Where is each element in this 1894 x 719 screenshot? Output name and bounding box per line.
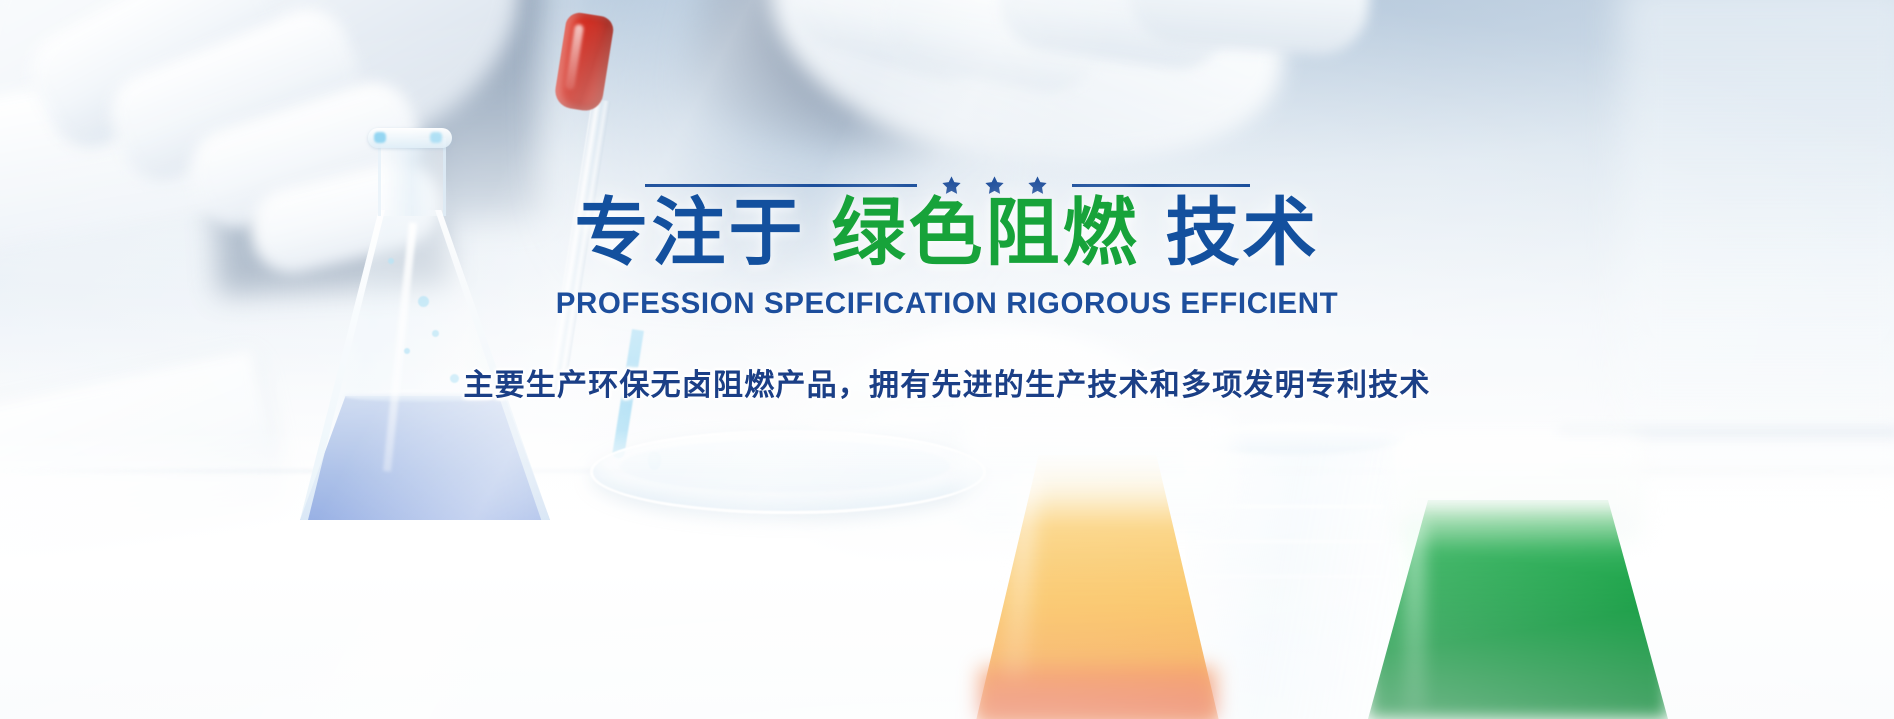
divider-line-left [645,184,917,187]
subtitle-english: PROFESSION SPECIFICATION RIGOROUS EFFICI… [0,287,1894,321]
divider-line-right [1072,184,1250,187]
headline-part-2: 绿色阻燃 [832,191,1140,274]
headline-part-1: 专注于 [575,191,806,274]
hero-banner: 专注于绿色阻燃技术 PROFESSION SPECIFICATION RIGOR… [0,0,1894,719]
page-title: 专注于绿色阻燃技术 [0,196,1894,270]
subtitle-chinese: 主要生产环保无卤阻燃产品，拥有先进的生产技术和多项发明专利技术 [0,360,1894,404]
headline-part-3: 技术 [1166,191,1320,274]
banner-text-block: 专注于绿色阻燃技术 PROFESSION SPECIFICATION RIGOR… [0,0,1894,719]
